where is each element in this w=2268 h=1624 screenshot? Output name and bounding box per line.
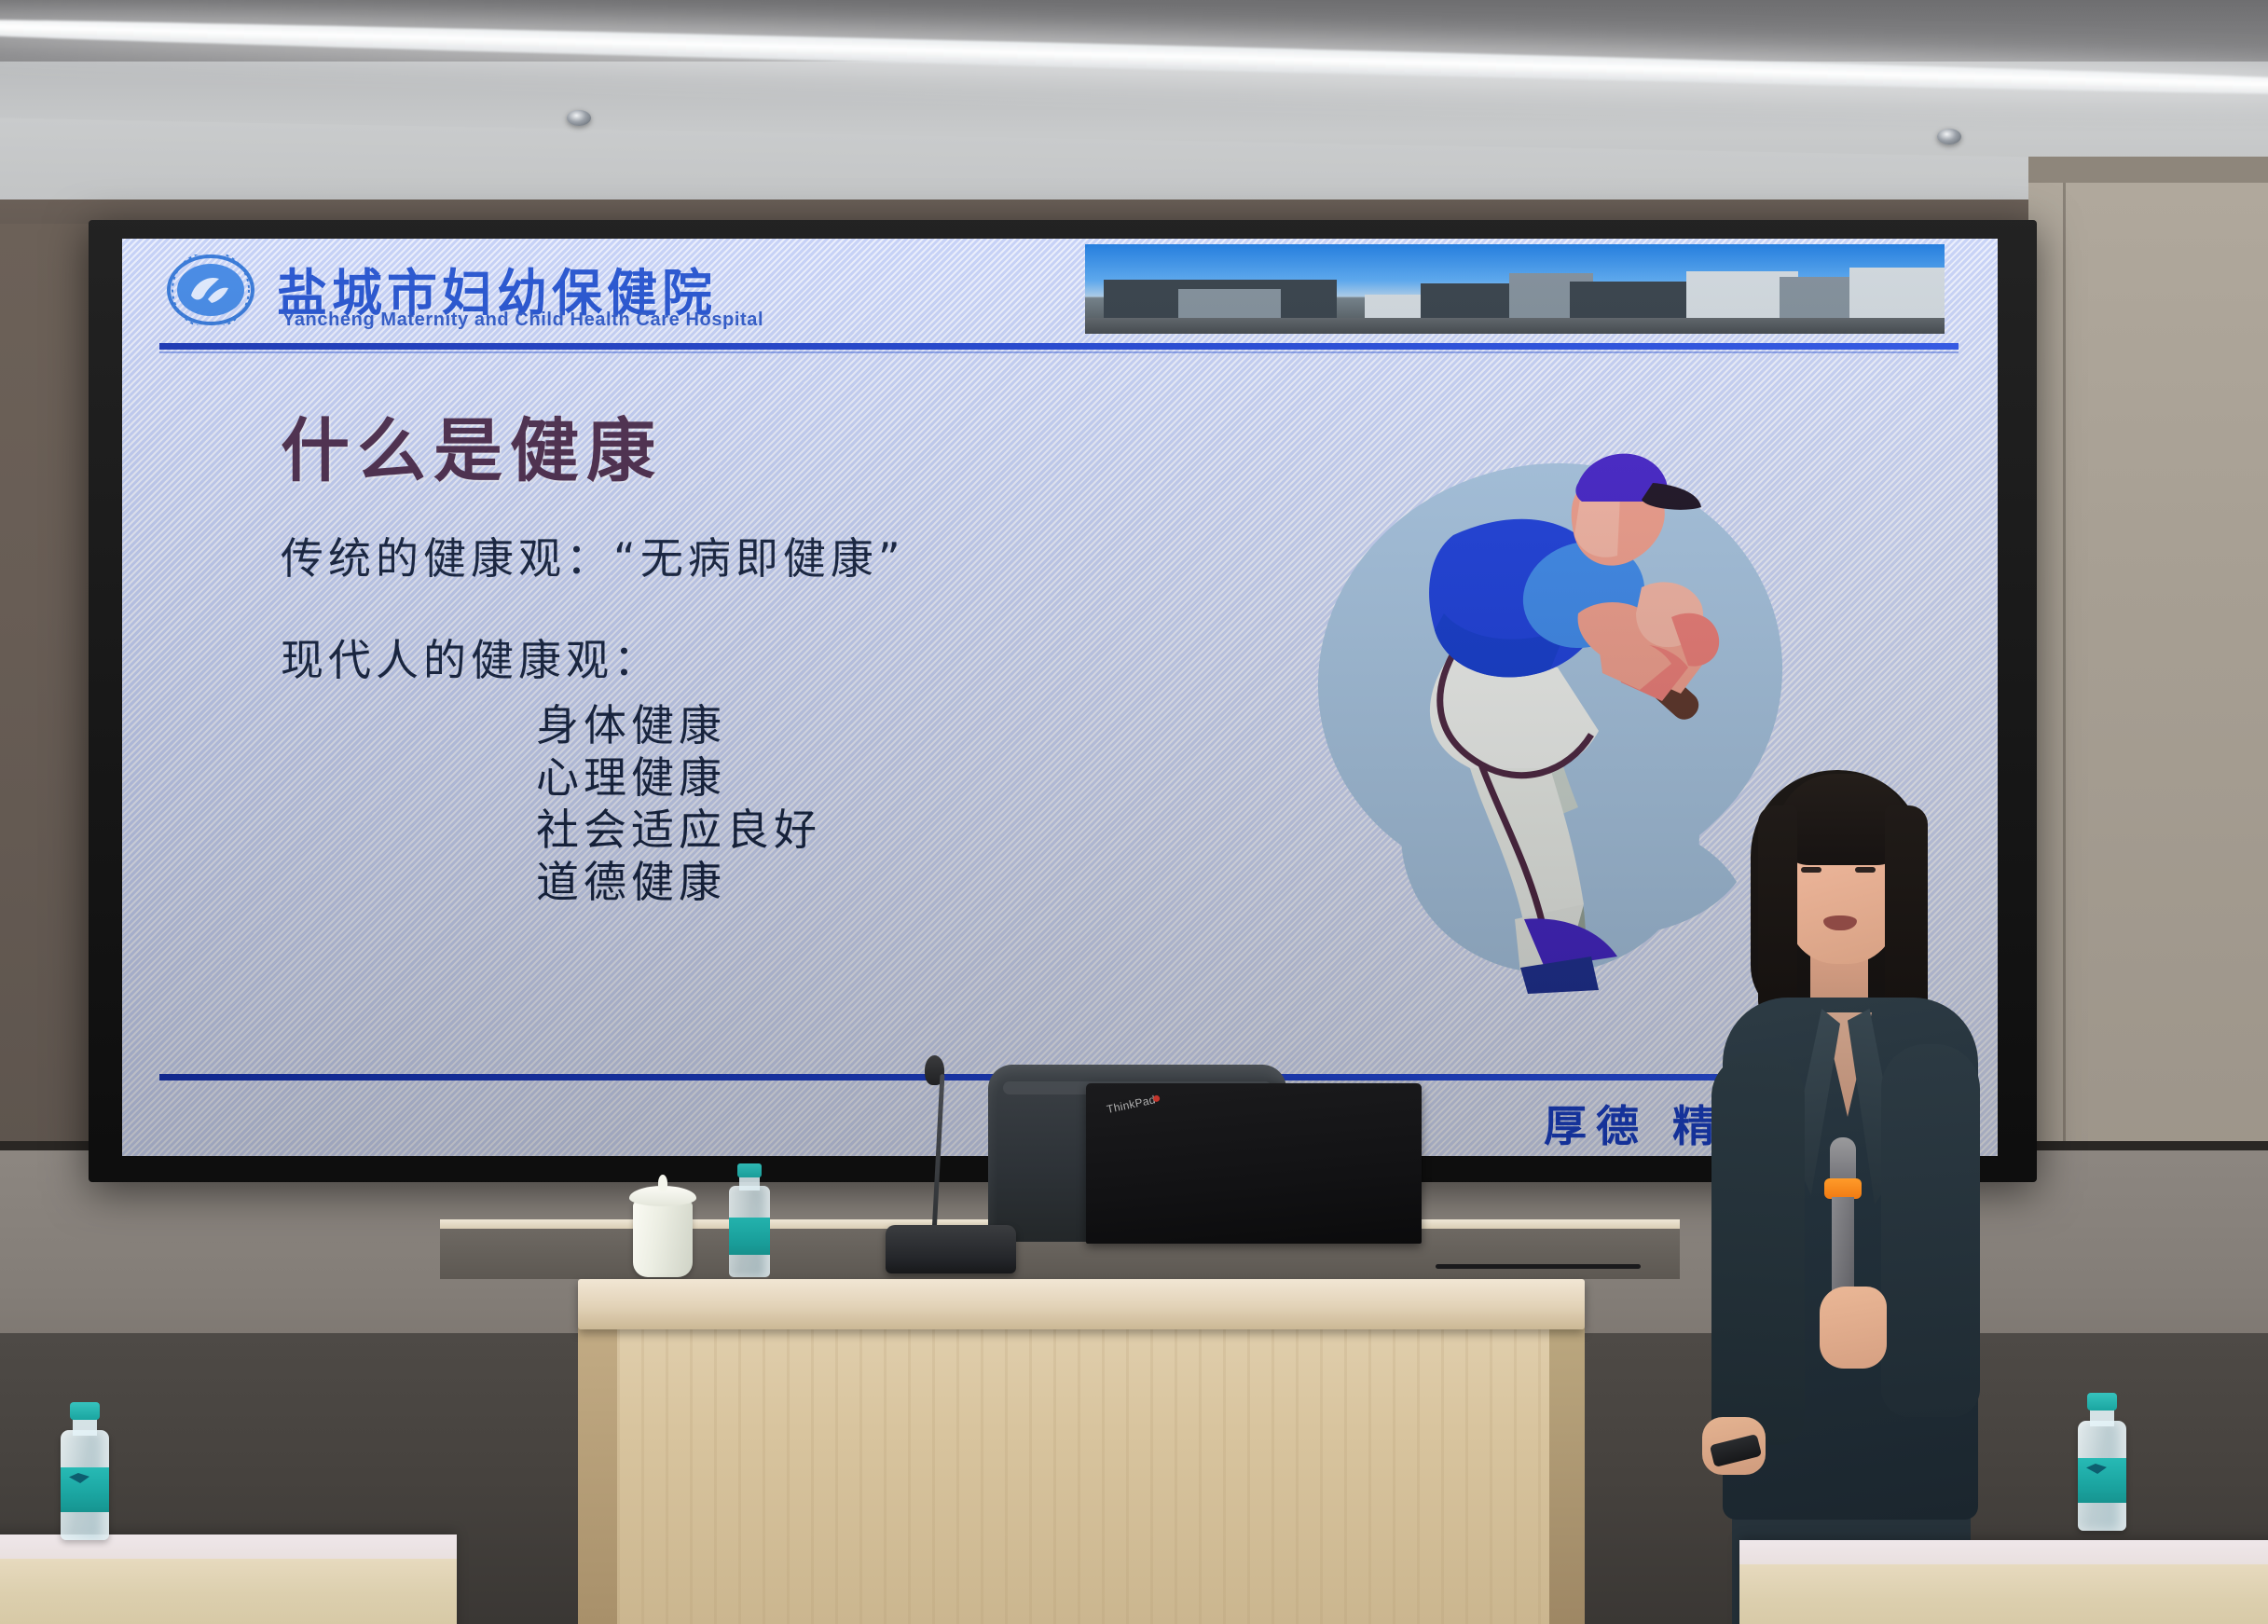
ceiling-spotlight xyxy=(1937,129,1961,145)
hospital-name-en: Yancheng Maternity and Child Health Care… xyxy=(282,310,763,331)
conference-room: 盐城市妇幼保健院 Yancheng Maternity and Child He… xyxy=(0,0,2268,1624)
presenter-eye xyxy=(1801,867,1821,873)
slide-bullet-item: 道德健康 xyxy=(536,856,1259,908)
slide-bullet-item: 心理健康 xyxy=(536,751,1259,804)
presenter-arm-left xyxy=(1711,1053,1805,1445)
slide-body: 传统的健康观：“无病即健康” 现代人的健康观： 身体健康 心理健康 社会适应良好… xyxy=(281,537,1259,908)
slide-title: 什么是健康 xyxy=(281,395,663,495)
header-divider-rule-thin xyxy=(159,351,1959,353)
hospital-seal-logo xyxy=(167,255,254,325)
side-wall-seam xyxy=(2063,183,2066,1171)
desk-front-panel xyxy=(617,1328,1549,1624)
presenter-hair-left xyxy=(1758,805,1797,1022)
desk-side-left xyxy=(578,1328,619,1624)
lectern-desk: ThinkPad xyxy=(578,1279,1585,1624)
ceiling-spotlight xyxy=(567,110,591,126)
presenter-arm-right xyxy=(1881,1044,1980,1417)
presenter-hand-holding-mic xyxy=(1820,1287,1887,1369)
ceramic-mug[interactable] xyxy=(629,1175,696,1277)
slide-bullet-item: 社会适应良好 xyxy=(536,804,1259,856)
desk-side-right xyxy=(1546,1328,1585,1624)
presenter-hair-right xyxy=(1885,805,1928,1029)
gooseneck-mic-base[interactable] xyxy=(886,1225,1016,1273)
thinkpad-logo: ThinkPad xyxy=(1106,1094,1154,1117)
desk-cable xyxy=(1436,1264,1641,1269)
water-bottle-left[interactable] xyxy=(58,1402,112,1540)
slide-bullet-item: 身体健康 xyxy=(536,699,1259,751)
attendee-table-left xyxy=(0,1535,457,1624)
female-presenter xyxy=(1706,764,1995,1624)
slide-body-line-1: 传统的健康观：“无病即健康” xyxy=(281,537,1259,581)
side-wall-header xyxy=(2028,157,2268,185)
water-bottle-right[interactable] xyxy=(2075,1393,2129,1531)
presenter-eye xyxy=(1855,867,1876,873)
thinkpad-laptop[interactable]: ThinkPad xyxy=(1086,1083,1422,1244)
header-divider-rule xyxy=(159,343,1959,350)
desk-top-surface xyxy=(578,1279,1585,1329)
attendee-table-right xyxy=(1739,1540,2268,1624)
hospital-building-panorama xyxy=(1085,244,1945,334)
slide-body-line-2: 现代人的健康观： xyxy=(281,639,1259,682)
slide-header: 盐城市妇幼保健院 Yancheng Maternity and Child He… xyxy=(122,239,1998,349)
desk-water-bottle[interactable] xyxy=(727,1163,772,1277)
